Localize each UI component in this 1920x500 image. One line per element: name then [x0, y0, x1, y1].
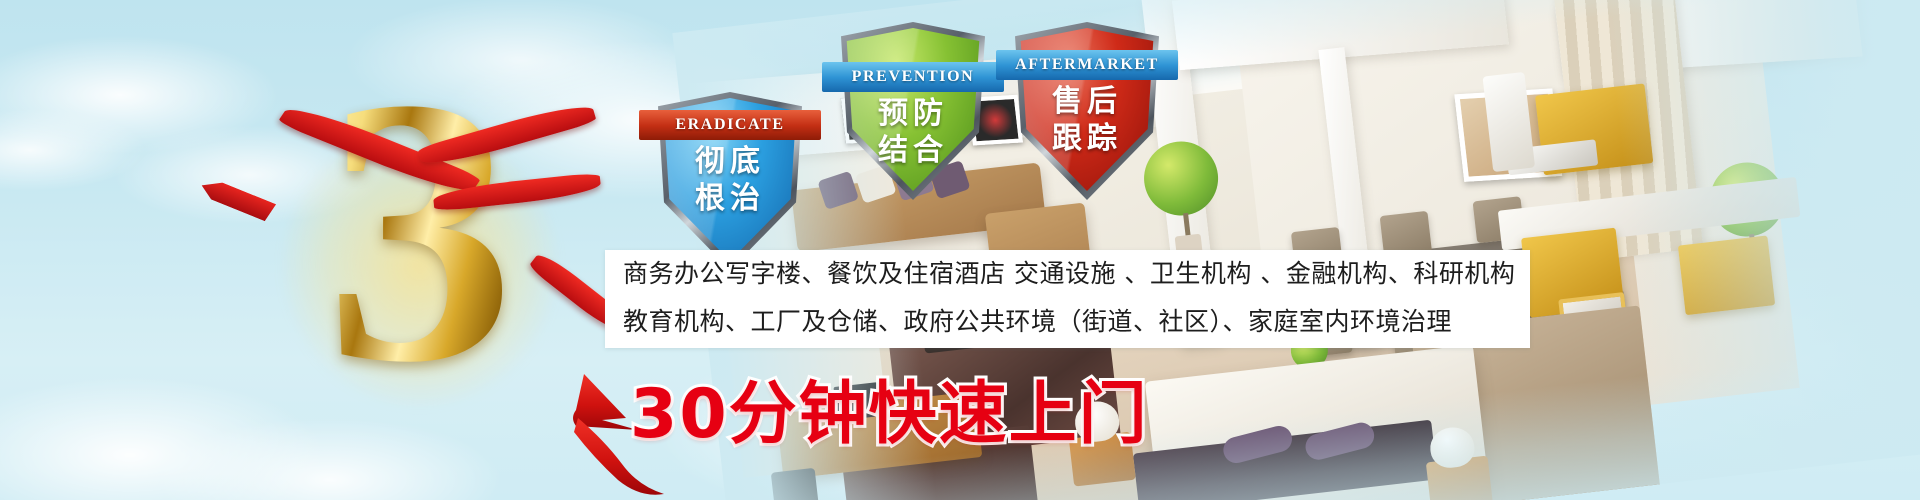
shield-cn-line1: 预防 [838, 96, 988, 133]
shield-ribbon: ERADICATE [639, 110, 821, 140]
shield-english-label: ERADICATE [675, 116, 784, 134]
refrigerator [1482, 72, 1535, 172]
shield-chinese-text: 彻底 根治 [655, 144, 805, 217]
service-scope-panel: 商务办公写字楼、餐饮及住宿酒店 交通设施 、卫生机构 、金融机构、科研机构 教育… [605, 250, 1530, 348]
shield-chinese-text: 售后 跟踪 [1012, 84, 1162, 157]
service-scope-line-1: 商务办公写字楼、餐饮及住宿酒店 交通设施 、卫生机构 、金融机构、科研机构 [605, 250, 1530, 298]
shield-cn-line2: 结合 [838, 133, 988, 170]
shield-ribbon: AFTERMARKET [996, 50, 1178, 80]
shield-english-label: AFTERMARKET [1015, 56, 1159, 74]
headline-text: 30分钟快速上门 [630, 358, 1149, 457]
shield-aftermarket: 售后 跟踪 AFTERMARKET [1012, 22, 1162, 200]
service-scope-line-2: 教育机构、工厂及仓储、政府公共环境（街道、社区）、家庭室内环境治理 [605, 298, 1530, 346]
shield-cn-line1: 彻底 [655, 144, 805, 181]
shield-english-label: PREVENTION [852, 68, 975, 86]
shield-eradicate: 彻底 根治 ERADICATE [655, 92, 805, 270]
golden-number-badge: 3 [255, 85, 585, 445]
shield-chinese-text: 预防 结合 [838, 96, 988, 169]
shield-prevention: 预防 结合 PREVENTION [838, 22, 988, 200]
promo-banner: 3 彻底 根治 [0, 0, 1920, 500]
shield-cn-line2: 根治 [655, 181, 805, 218]
shield-cn-line1: 售后 [1012, 84, 1162, 121]
shield-cn-line2: 跟踪 [1012, 121, 1162, 158]
shield-ribbon: PREVENTION [822, 62, 1004, 92]
golden-three-numeral: 3 [255, 41, 585, 421]
